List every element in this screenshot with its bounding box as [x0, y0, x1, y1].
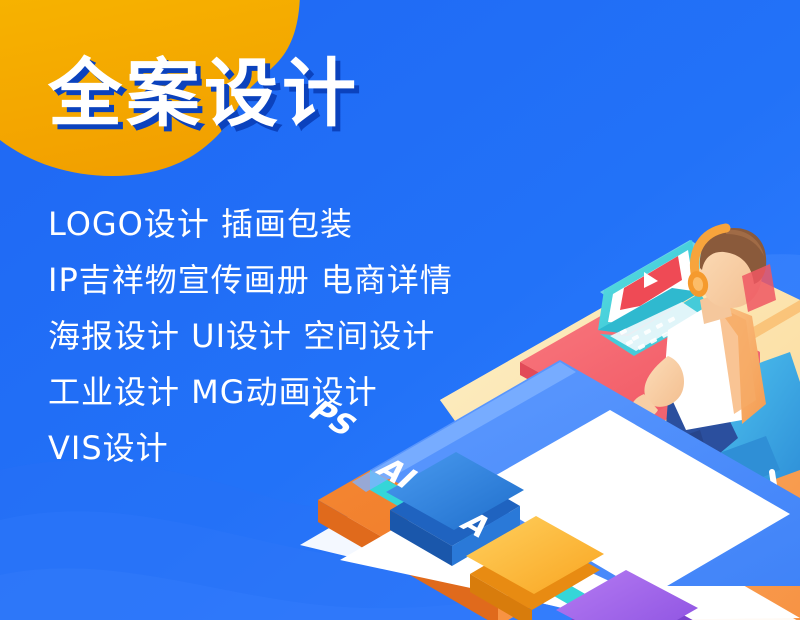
service-list: LOGO设计 插画包装 IP吉祥物宣传画册 电商详情 海报设计 UI设计 空间设… [48, 196, 453, 476]
service-line-4: 工业设计 MG动画设计 [48, 364, 453, 420]
service-line-2: IP吉祥物宣传画册 电商详情 [48, 252, 453, 308]
poster-canvas: PS AI A 全案设计 LOGO设计 插画包装 IP吉祥物宣传画册 电商详情 … [0, 0, 800, 620]
service-line-5: VIS设计 [48, 420, 453, 476]
poster-title-wrap: 全案设计 [48, 56, 360, 134]
service-line-3: 海报设计 UI设计 空间设计 [48, 308, 453, 364]
poster-title: 全案设计 [48, 56, 360, 134]
service-line-1: LOGO设计 插画包装 [48, 196, 453, 252]
